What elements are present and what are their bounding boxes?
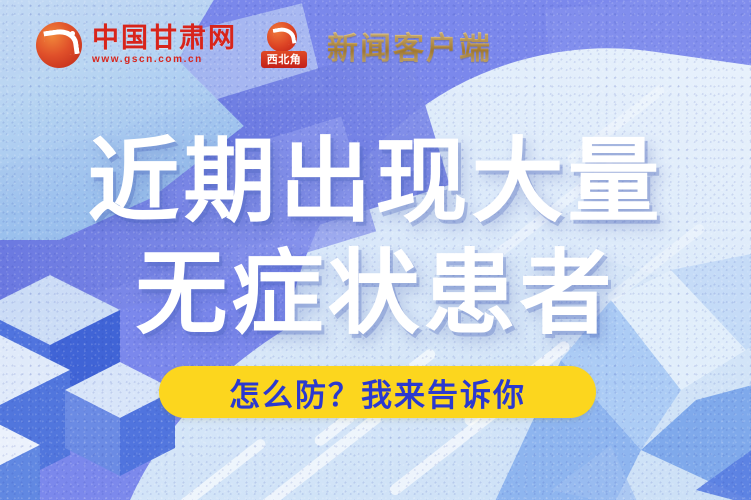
- news-client-label: 新闻客户端: [327, 23, 492, 68]
- gscn-swan-logo-icon: [36, 22, 82, 68]
- poster-header: 中国甘肃网 www.gscn.com.cn 西北角 新闻客户端: [0, 0, 751, 90]
- brand-lockup: 中国甘肃网 www.gscn.com.cn 西北角 新闻客户端: [36, 22, 492, 68]
- poster-canvas: 中国甘肃网 www.gscn.com.cn 西北角 新闻客户端 近期出现大量 无…: [0, 0, 751, 500]
- subtitle-pill-text: 怎么防？我来告诉你: [229, 370, 526, 415]
- gscn-wordmark: 中国甘肃网 www.gscn.com.cn: [92, 25, 237, 65]
- headline-line-1: 近期出现大量: [0, 126, 751, 238]
- headline-line-2: 无症状患者: [0, 238, 751, 350]
- headline-block: 近期出现大量 无症状患者: [0, 126, 751, 350]
- gscn-site-url: www.gscn.com.cn: [92, 55, 237, 65]
- gscn-site-name: 中国甘肃网: [92, 25, 237, 52]
- subtitle-pill: 怎么防？我来告诉你: [159, 366, 596, 418]
- xibeijiao-banner-label: 西北角: [261, 51, 307, 68]
- logo-eye-dot: [70, 31, 75, 36]
- xibeijiao-logo-icon: 西北角: [261, 22, 307, 68]
